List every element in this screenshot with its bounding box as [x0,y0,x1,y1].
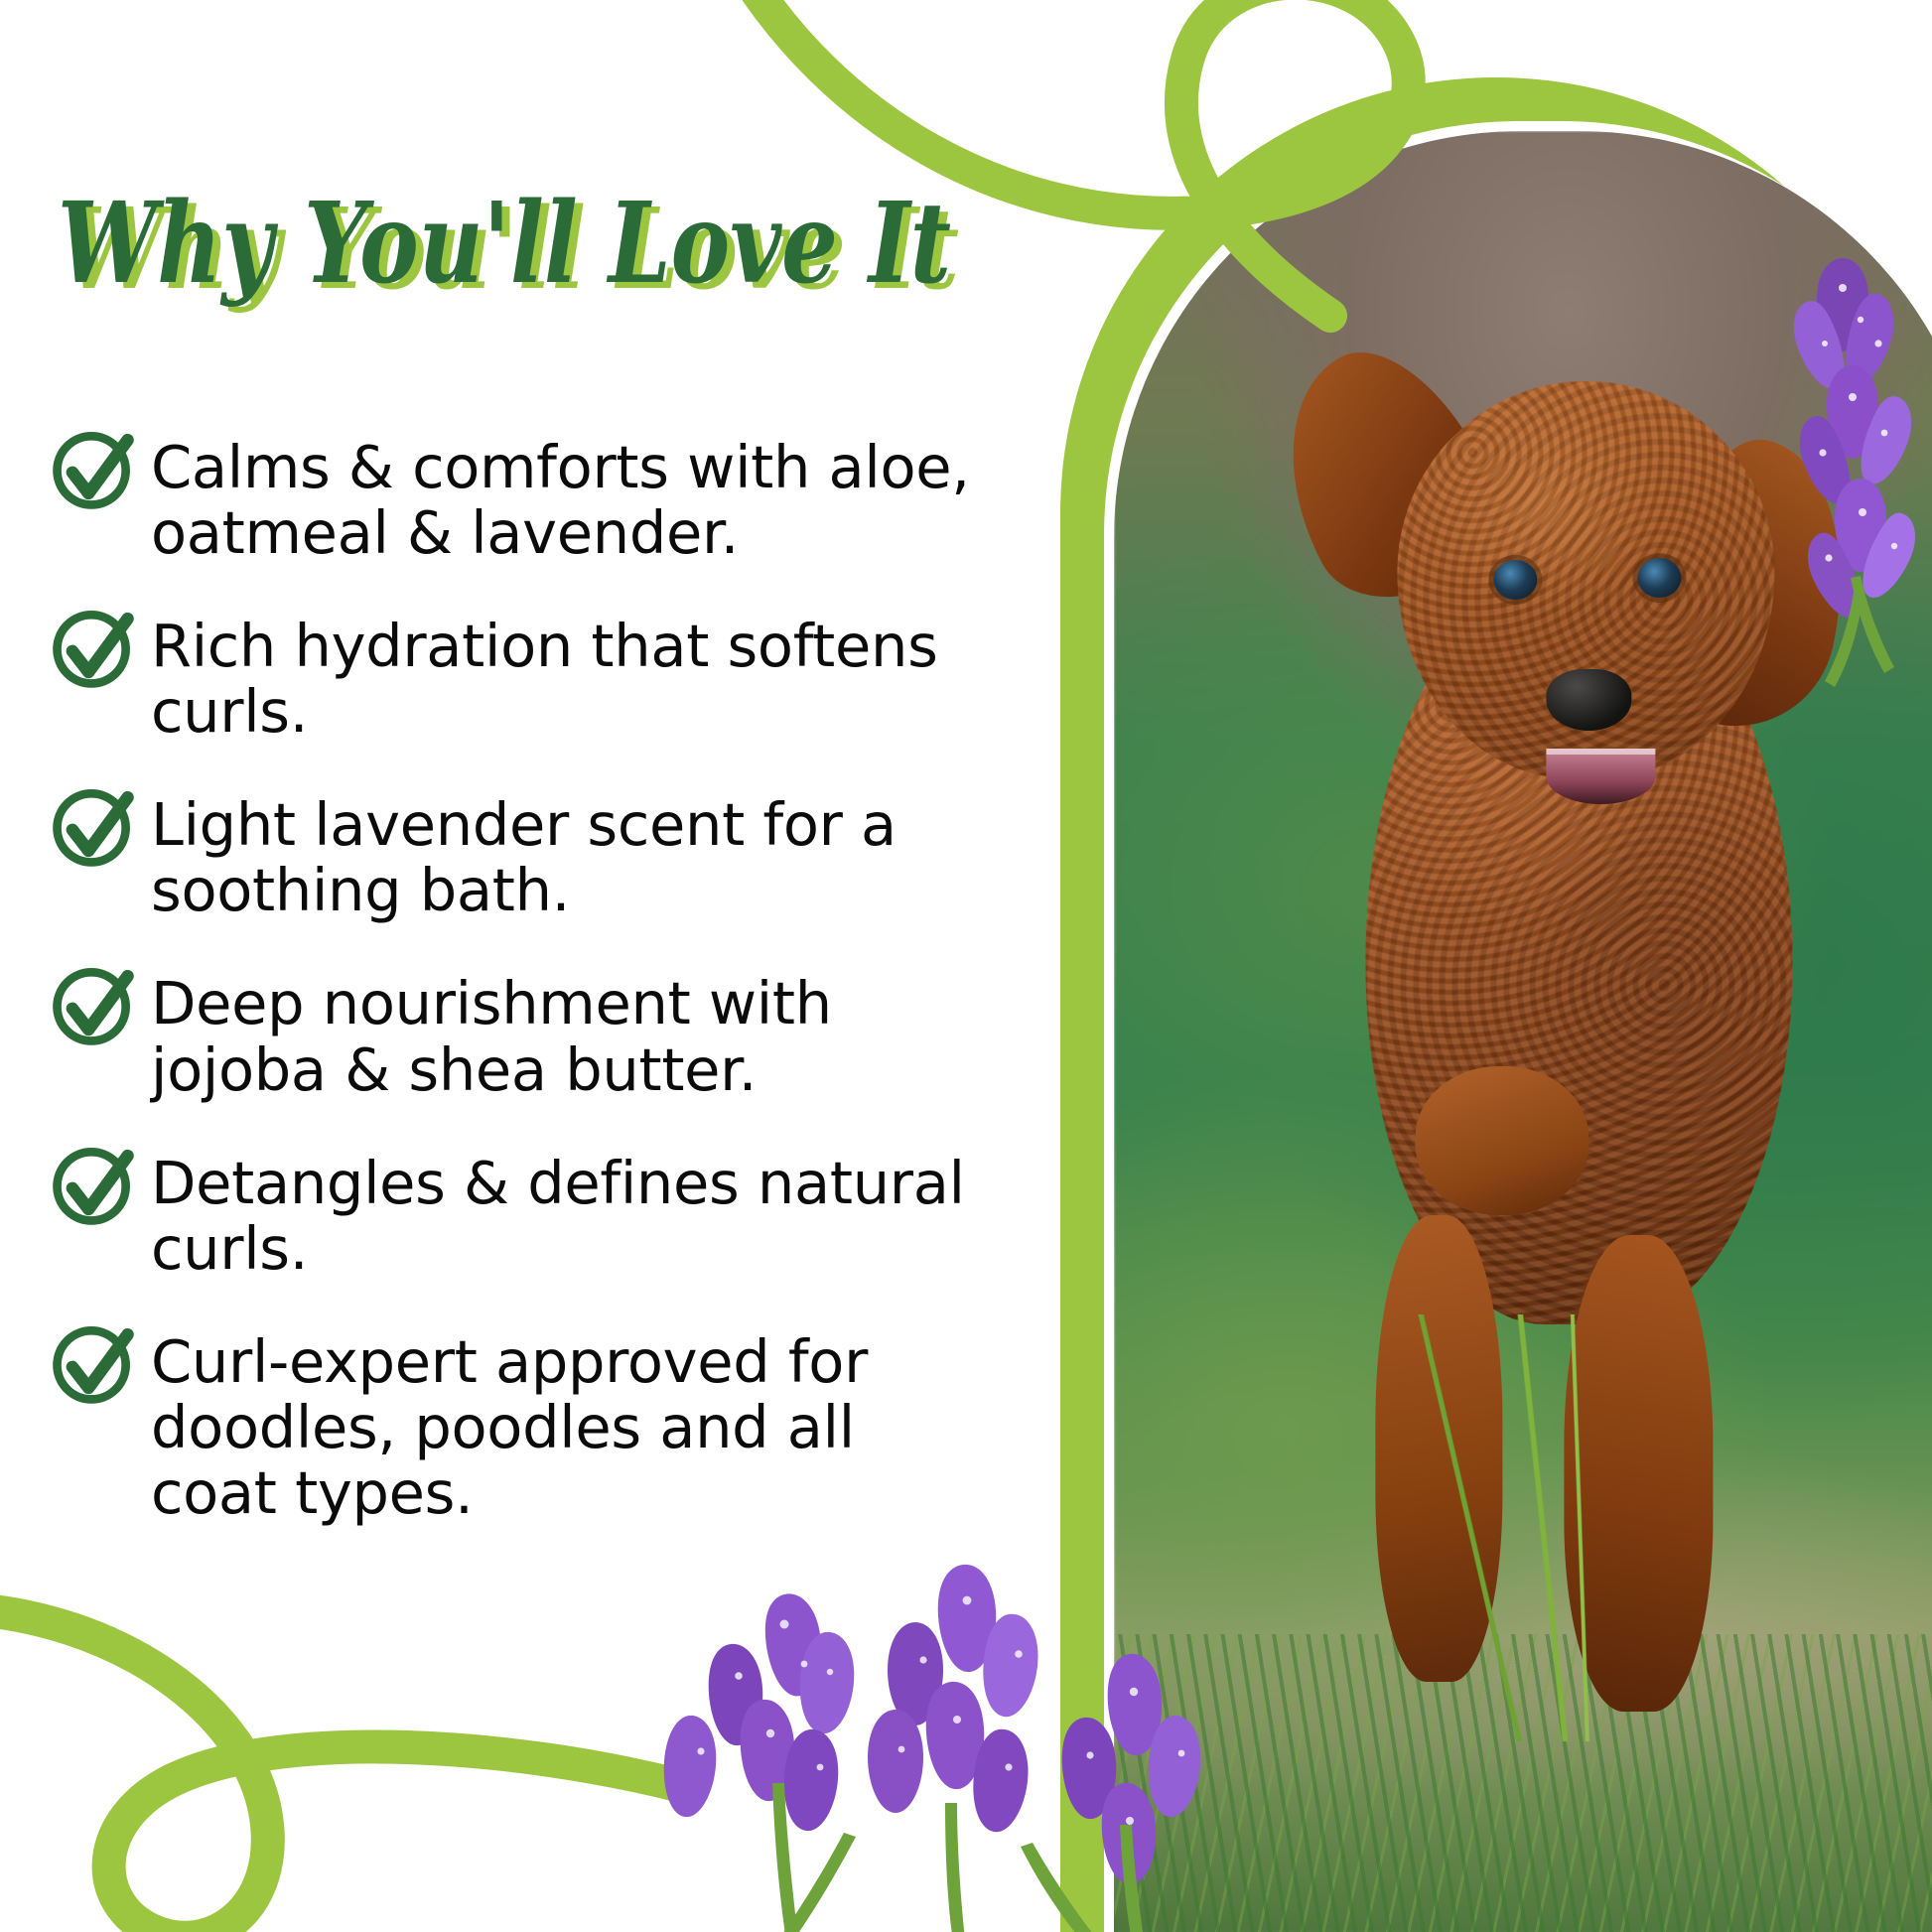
benefits-list: Calms & comforts with aloe, oatmeal & la… [46,427,1038,1526]
list-item: Detangles & defines natural curls. [46,1143,1038,1282]
puppy-mouth [1546,749,1655,804]
puppy-left-eye [1493,560,1537,600]
list-item: Deep nourishment with jojoba & shea butt… [46,963,1038,1102]
list-item: Curl-expert approved for doodles, poodle… [46,1321,1038,1526]
check-circle-icon [46,421,141,516]
list-item: Rich hydration that softens curls. [46,606,1038,745]
check-circle-icon [46,957,141,1052]
page-title-text: Why You'll Love It [58,179,951,309]
lavender-sprig-bottom-icon [635,1505,1251,1932]
list-item: Light lavender scent for a soothing bath… [46,784,1038,923]
check-circle-icon [46,1137,141,1232]
check-circle-icon [46,600,141,695]
list-item-label: Deep nourishment with jojoba & shea butt… [151,963,975,1102]
puppy-nose [1546,669,1631,731]
lavender-sprig-right-icon [1648,248,1932,715]
list-item-label: Curl-expert approved for doodles, poodle… [151,1321,975,1526]
page-title: Why You'll Love It Why You'll Love It [52,177,1005,326]
grass-blades-foreground [1397,1314,1695,1741]
page-title-art: Why You'll Love It Why You'll Love It [52,177,1005,326]
list-item-label: Detangles & defines natural curls. [151,1143,975,1282]
list-item-label: Rich hydration that softens curls. [151,606,975,745]
check-circle-icon [46,1315,141,1411]
puppy-raised-paw [1415,1066,1588,1215]
list-item-label: Calms & comforts with aloe, oatmeal & la… [151,427,975,566]
poster-canvas: Why You'll Love It Why You'll Love It Ca… [0,0,1932,1932]
list-item-label: Light lavender scent for a soothing bath… [151,784,975,923]
list-item: Calms & comforts with aloe, oatmeal & la… [46,427,1038,566]
check-circle-icon [46,778,141,874]
